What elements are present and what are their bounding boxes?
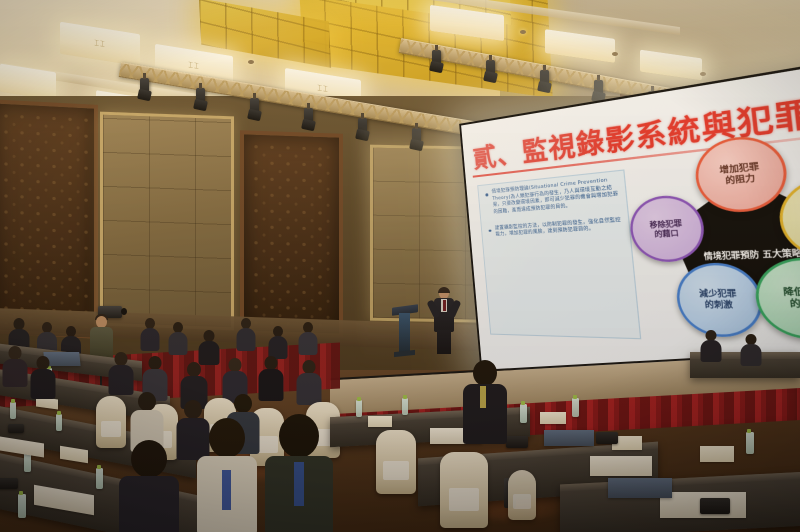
ceiling-downlight [248,60,254,64]
bubble-line1: 減少犯罪 [699,289,737,300]
slide-bullet: 建置攝影監控的方法，以防制犯罪的發生，強化自然監控能力，增加犯罪的風險，達到預防… [487,217,622,240]
carpet-pattern [180,420,330,480]
stage-spotlight [412,128,421,147]
stage-spotlight [594,80,603,99]
ceiling-downlight [520,30,526,34]
ceiling-downlight [700,72,706,76]
bubble-line2: 的刺激 [700,300,738,311]
bubble-line2: 的阻力 [720,173,761,188]
presenter-hair [438,287,450,293]
core-label-line1: 情境犯罪預防 [703,249,759,261]
stage-spotlight [358,118,367,137]
carpet-pattern [620,480,790,532]
presenter [432,288,456,354]
conference-hall-photo: ⌶⌶ ⌶⌶ ⌶⌶ ⌶⌶ [0,0,800,532]
bubble-line2: 的誘因 [784,298,800,310]
stage-spotlight [540,70,549,89]
slide-bullet: 情境犯罪預防理論(Situational Crime Prevention Th… [484,177,620,217]
stage-spotlight [304,108,313,127]
slide-body-textbox: 情境犯罪預防理論(Situational Crime Prevention Th… [477,169,641,339]
light-panel-glyph: ⌶⌶ [94,38,106,50]
stage-spotlight [140,78,149,97]
five-strategies-diagram: 情境犯罪預防 五大策略 增加犯罪 的阻力 提升犯罪 的風險 [628,126,800,354]
bubble-line2: 的藉口 [650,228,683,240]
ceiling-light-panel [0,64,56,101]
presenter-legs [437,330,451,354]
stage-spotlight [486,60,495,79]
stone-wall-panel [100,112,234,331]
lectern [392,306,418,354]
wood-lattice-panel [240,130,343,338]
light-panel-glyph: ⌶⌶ [188,60,200,72]
ceiling-downlight [612,52,618,56]
stage-spotlight [196,88,205,107]
light-panel-glyph: ⌶⌶ [317,83,329,95]
carpet-pattern [420,450,600,520]
lectern-body [399,313,410,355]
bubble-line1: 降低犯罪 [783,286,800,298]
presenter-tie [443,300,446,311]
stage-spotlight [250,98,259,117]
wood-lattice-panel [0,99,98,339]
stage-spotlight [432,50,441,69]
ceiling-light-panel: ⌶⌶ [60,22,140,67]
projection-screen-area: 貳、監視錄影系統與犯罪預防 情境犯罪預防理論(Situational Crime… [470,122,800,380]
